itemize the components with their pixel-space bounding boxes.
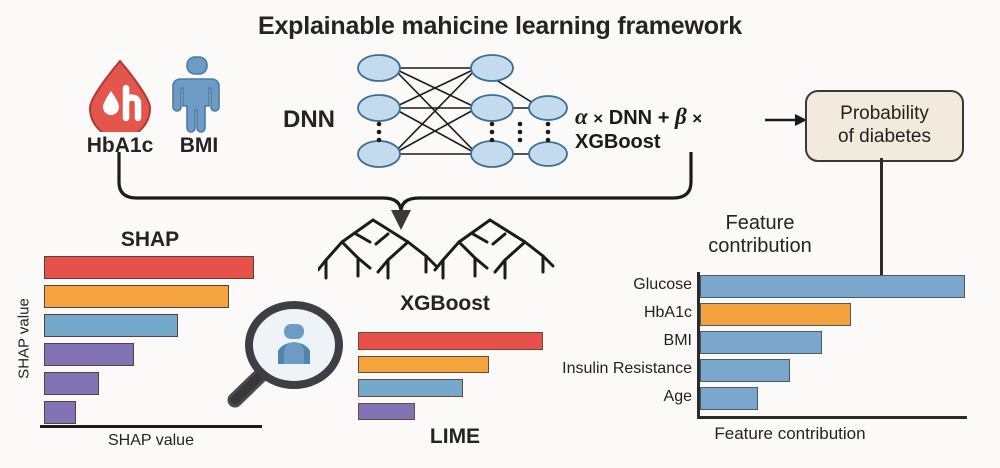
lime-label: LIME xyxy=(380,425,530,449)
feature-contribution-x-axis-title: Feature contribution xyxy=(640,424,940,444)
page-title: Explainable mahicine learning framework xyxy=(0,12,1000,41)
beta-symbol: β xyxy=(675,104,687,129)
fc-bar xyxy=(700,303,851,326)
formula-xgboost: XGBoost xyxy=(575,131,661,153)
times-symbol-2: × xyxy=(692,109,702,128)
fc-category-label: BMI xyxy=(512,332,692,350)
probability-connector-line xyxy=(880,158,883,288)
fc-bar xyxy=(700,275,965,298)
fc-title-line-1: Feature xyxy=(726,212,795,234)
fc-bar xyxy=(700,359,790,382)
figure-canvas: Explainable mahicine learning framework … xyxy=(0,0,1000,468)
fc-category-label: Glucose xyxy=(512,276,692,294)
fc-category-label: Age xyxy=(512,388,692,406)
fc-title-line-2: contribution xyxy=(708,235,811,257)
shap-chart-title: SHAP xyxy=(75,228,225,252)
xgboost-label: XGBoost xyxy=(370,292,520,316)
arrow-right-icon xyxy=(765,112,807,128)
magnifier-icon xyxy=(222,298,344,410)
formula-dnn: DNN xyxy=(609,107,652,129)
shap-bar xyxy=(44,343,134,366)
fc-row: HbA1c xyxy=(520,302,970,329)
lime-bar xyxy=(358,403,415,421)
fc-category-label: Insulin Resistance xyxy=(512,360,692,378)
ensemble-formula: α × DNN + β × XGBoost xyxy=(575,103,780,154)
fc-bar xyxy=(700,387,758,410)
person-icon xyxy=(168,55,226,135)
feature-contribution-title: Feature contribution xyxy=(650,212,870,258)
blood-drop-icon xyxy=(84,58,156,132)
shap-x-axis-title: SHAP value xyxy=(40,432,262,450)
fc-row: Glucose xyxy=(520,274,970,301)
shap-bar xyxy=(44,401,76,424)
probability-of-diabetes-box: Probability of diabetes xyxy=(805,90,964,162)
shap-bar xyxy=(44,285,229,308)
fc-row: Insulin Resistance xyxy=(520,358,970,385)
probability-line-2: of diabetes xyxy=(838,126,931,147)
fc-category-label: HbA1c xyxy=(512,304,692,322)
times-symbol-1: × xyxy=(593,109,603,128)
lime-bar xyxy=(358,356,489,374)
probability-line-1: Probability xyxy=(840,103,929,124)
shap-x-axis-line xyxy=(40,425,262,428)
fc-row: Age xyxy=(520,386,970,413)
fc-row: BMI xyxy=(520,330,970,357)
plus-symbol: + xyxy=(658,107,670,129)
fc-bar xyxy=(700,331,822,354)
shap-bar xyxy=(44,314,178,337)
alpha-symbol: α xyxy=(575,104,588,129)
shap-y-axis-label: SHAP value xyxy=(16,279,33,399)
shap-bar xyxy=(44,256,254,279)
fc-x-axis-line xyxy=(697,416,967,419)
lime-bar xyxy=(358,379,463,397)
shap-bar xyxy=(44,372,99,395)
